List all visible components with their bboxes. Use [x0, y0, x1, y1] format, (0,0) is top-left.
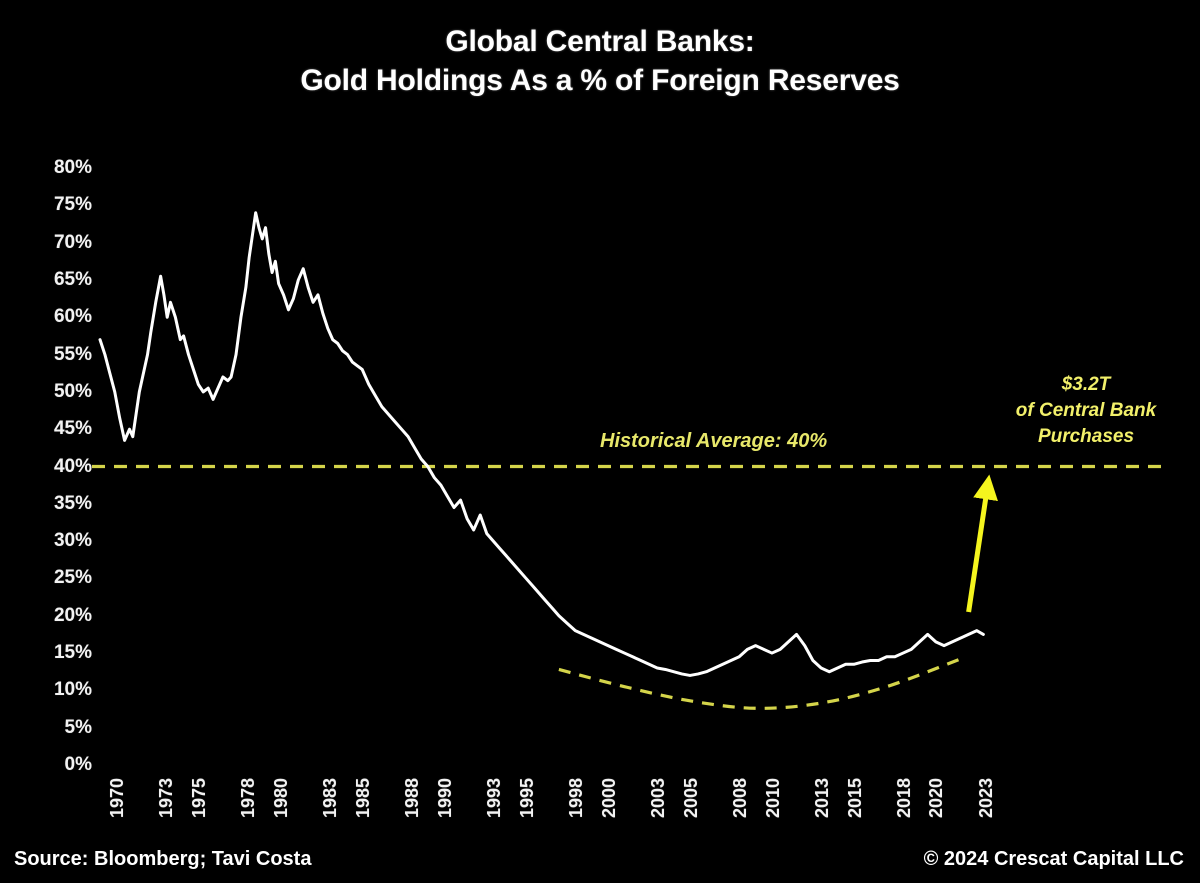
y-axis-tick-label: 25%	[32, 567, 92, 589]
x-axis-tick-label: 1993	[484, 778, 505, 818]
x-axis-tick-label: 2008	[730, 778, 751, 818]
source-note: Source: Bloomberg; Tavi Costa	[14, 848, 311, 871]
y-axis-tick-label: 60%	[32, 306, 92, 328]
purchases-subtitle-2: Purchases	[986, 424, 1186, 450]
y-axis-tick-label: 45%	[32, 418, 92, 440]
x-axis-tick-label: 1978	[238, 778, 259, 818]
x-axis-tick-label: 1990	[435, 778, 456, 818]
y-axis-tick-label: 65%	[32, 269, 92, 291]
x-axis-tick-label: 2015	[845, 778, 866, 818]
y-axis-tick-label: 35%	[32, 493, 92, 515]
y-axis-tick-label: 20%	[32, 605, 92, 627]
x-axis-tick-label: 2013	[812, 778, 833, 818]
historical-average-label: Historical Average: 40%	[600, 430, 827, 453]
x-axis-tick-label: 1970	[107, 778, 128, 818]
central-bank-purchases-label: $3.2T of Central Bank Purchases	[986, 372, 1186, 451]
x-axis-tick-label: 2000	[599, 778, 620, 818]
x-axis-tick-label: 1995	[517, 778, 538, 818]
y-axis-tick-label: 55%	[32, 344, 92, 366]
y-axis-tick-label: 75%	[32, 194, 92, 216]
y-axis-tick-label: 10%	[32, 679, 92, 701]
y-axis-tick-label: 40%	[32, 456, 92, 478]
x-axis-tick-label: 2010	[763, 778, 784, 818]
x-axis-tick-label: 1973	[156, 778, 177, 818]
y-axis-tick-label: 0%	[32, 754, 92, 776]
y-axis-tick-label: 50%	[32, 381, 92, 403]
accumulation-trend-curve	[559, 659, 961, 708]
x-axis-tick-label: 1985	[353, 778, 374, 818]
y-axis-tick-label: 5%	[32, 717, 92, 739]
x-axis-tick-label: 2023	[976, 778, 997, 818]
x-axis-tick-label: 2018	[894, 778, 915, 818]
gold-holdings-series-line	[100, 213, 983, 676]
chart-root: Global Central Banks: Gold Holdings As a…	[0, 0, 1200, 883]
y-axis-tick-label: 70%	[32, 232, 92, 254]
x-axis-tick-label: 2003	[648, 778, 669, 818]
x-axis-tick-label: 1983	[320, 778, 341, 818]
x-axis-tick-label: 1998	[566, 778, 587, 818]
y-axis-tick-label: 30%	[32, 530, 92, 552]
purchases-amount: $3.2T	[986, 372, 1186, 398]
y-axis-tick-label: 80%	[32, 157, 92, 179]
y-axis-tick-label: 15%	[32, 642, 92, 664]
x-axis-tick-label: 1988	[402, 778, 423, 818]
copyright-note: © 2024 Crescat Capital LLC	[924, 848, 1184, 871]
x-axis-tick-label: 2020	[926, 778, 947, 818]
x-axis-tick-label: 1975	[189, 778, 210, 818]
x-axis-tick-label: 2005	[681, 778, 702, 818]
purchases-subtitle-1: of Central Bank	[986, 398, 1186, 424]
x-axis-tick-label: 1980	[271, 778, 292, 818]
central-bank-purchases-arrow	[969, 481, 989, 612]
